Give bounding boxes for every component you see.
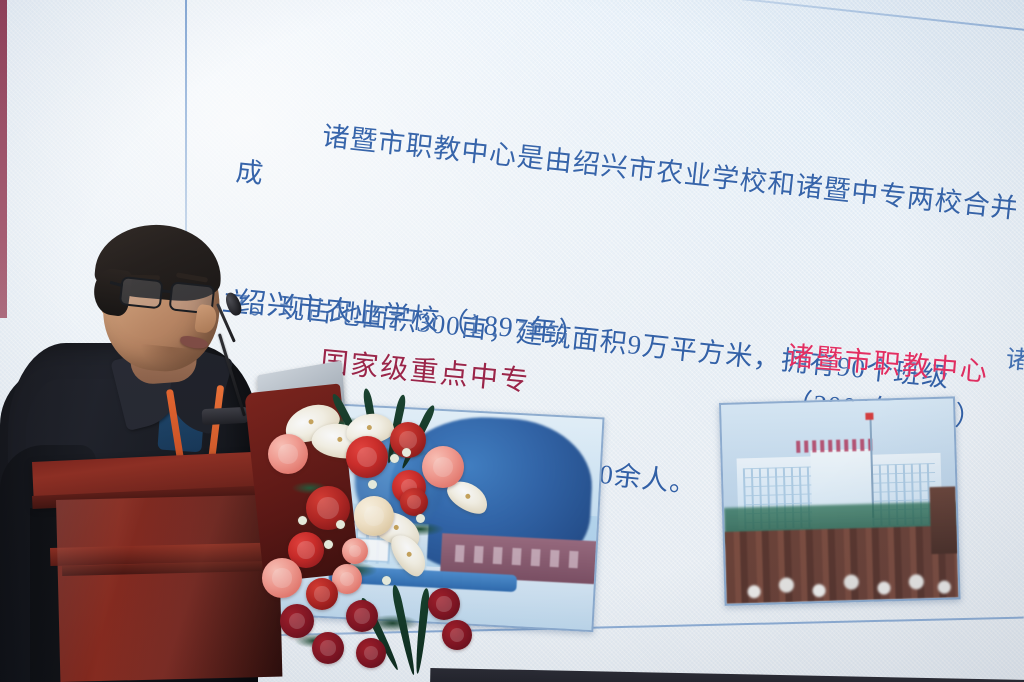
bouquet-rose-pink-3	[262, 558, 302, 598]
edge-cut-caption: 诸	[1005, 339, 1024, 376]
podium-body	[56, 495, 282, 682]
bouquet-filler-6	[416, 514, 425, 523]
bouquet-filler-2	[402, 448, 411, 457]
campus-photo-right-post	[930, 486, 957, 554]
podium-bouquet	[250, 388, 480, 682]
bouquet-rose-dark-5	[428, 588, 460, 620]
screenshot-root: 诸暨市职教中心是由绍兴市农业学校和诸暨中专两校合并成 立。现占地面积300亩，建…	[0, 0, 1024, 682]
slide-body-line-1: 诸暨市职教中心是由绍兴市农业学校和诸暨中专两校合并成	[234, 107, 1024, 278]
bouquet-filler-7	[298, 516, 307, 525]
bouquet-filler-1	[390, 454, 399, 463]
bouquet-rose-dark-4	[356, 638, 386, 668]
bouquet-rose-pink-5	[342, 538, 368, 564]
bouquet-filler-5	[368, 480, 377, 489]
eyeglass-lens-left	[119, 276, 164, 309]
bouquet-filler-8	[382, 576, 391, 585]
bouquet-filler-4	[324, 540, 333, 549]
campus-photo-crowd-hats	[726, 560, 959, 604]
bouquet-rose-dark-2	[280, 604, 314, 638]
screen-seam-diagonal	[612, 0, 1024, 37]
bouquet-filler-3	[336, 520, 345, 529]
bouquet-rose-red-5	[306, 578, 338, 610]
bouquet-rose-dark-3	[312, 632, 344, 664]
bouquet-rose-cream-1	[354, 496, 394, 536]
bouquet-rose-pink-1	[268, 434, 308, 474]
campus-photo-building-sign	[796, 438, 875, 452]
campus-building-photo	[719, 396, 961, 606]
bouquet-rose-dark-1	[346, 600, 378, 632]
screen-seam-vertical	[185, 0, 187, 258]
bouquet-rose-pink-2	[422, 446, 464, 488]
bouquet-rose-red-1	[346, 436, 388, 478]
bouquet-rose-red-6	[400, 488, 428, 516]
campus-photo-flag	[865, 413, 873, 420]
bouquet-rose-dark-6	[442, 620, 472, 650]
